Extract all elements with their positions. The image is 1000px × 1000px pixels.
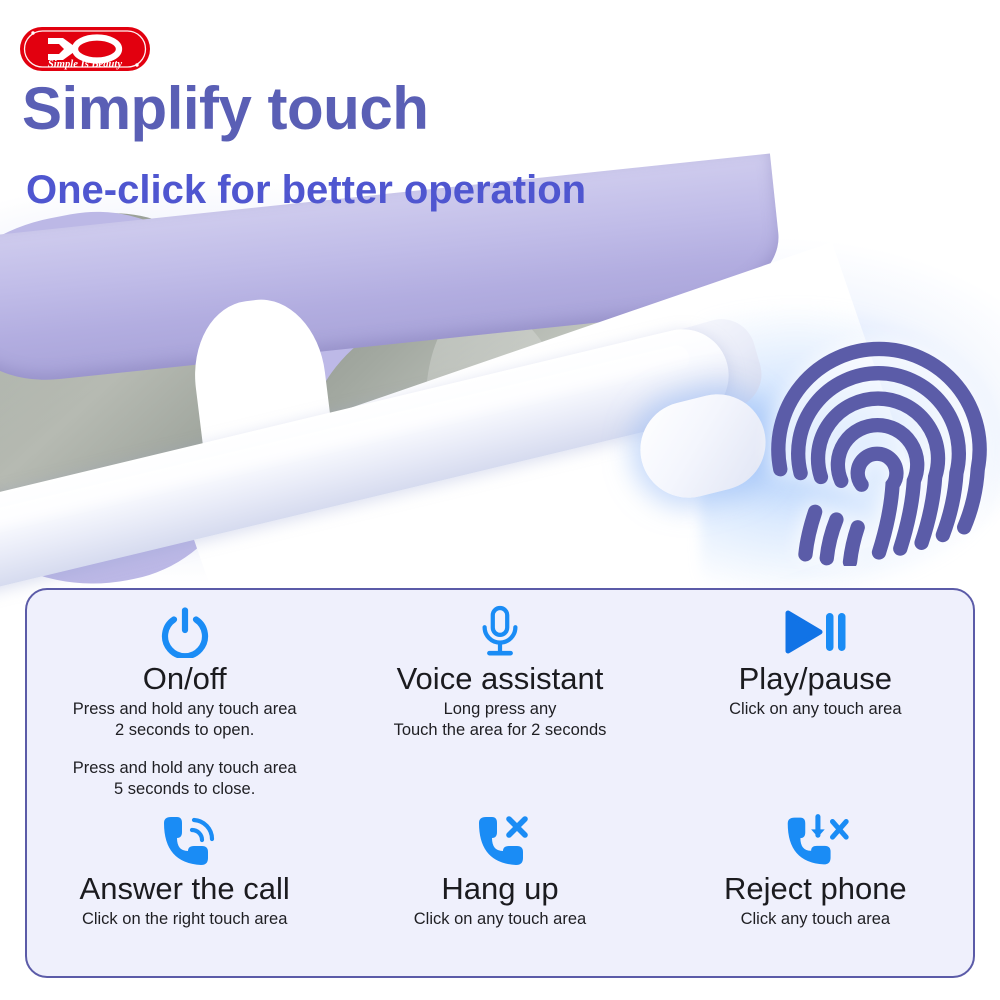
infographic-page: Simple Is Beauty Simplify touch One-clic… — [0, 0, 1000, 1000]
svg-text:Simple Is Beauty: Simple Is Beauty — [48, 59, 122, 70]
feature-label: On/off — [143, 662, 227, 696]
feature-description-secondary: Press and hold any touch area 5 seconds … — [73, 758, 297, 800]
page-title: Simplify touch — [22, 79, 428, 139]
feature-description: Click on any touch area — [729, 699, 901, 720]
feature-label: Voice assistant — [397, 662, 604, 696]
feature-description: Long press any Touch the area for 2 seco… — [394, 699, 607, 741]
feature-reject-phone: Reject phone Click any touch area — [658, 808, 973, 980]
power-icon — [159, 604, 211, 660]
feature-answer-call: Answer the call Click on the right touch… — [27, 808, 342, 980]
phone-reject-icon — [778, 814, 852, 870]
feature-description: Press and hold any touch area 2 seconds … — [73, 699, 297, 741]
microphone-icon — [475, 604, 525, 660]
phone-incoming-icon — [154, 814, 216, 870]
feature-description: Click on any touch area — [414, 909, 586, 930]
feature-label: Hang up — [441, 872, 558, 906]
phone-hangup-icon — [469, 814, 531, 870]
feature-on-off: On/off Press and hold any touch area 2 s… — [27, 590, 342, 808]
play-pause-icon — [782, 604, 848, 660]
feature-label: Answer the call — [80, 872, 290, 906]
feature-label: Play/pause — [739, 662, 892, 696]
feature-play-pause: Play/pause Click on any touch area — [658, 590, 973, 808]
feature-description: Click any touch area — [741, 909, 891, 930]
fingerprint-icon — [762, 326, 996, 566]
feature-description: Click on the right touch area — [82, 909, 287, 930]
feature-voice-assistant: Voice assistant Long press any Touch the… — [342, 590, 657, 808]
touch-controls-panel: On/off Press and hold any touch area 2 s… — [25, 588, 975, 978]
feature-hang-up: Hang up Click on any touch area — [342, 808, 657, 980]
page-subtitle: One-click for better operation — [26, 170, 586, 210]
feature-label: Reject phone — [724, 872, 907, 906]
xo-logo: Simple Is Beauty — [18, 22, 152, 76]
